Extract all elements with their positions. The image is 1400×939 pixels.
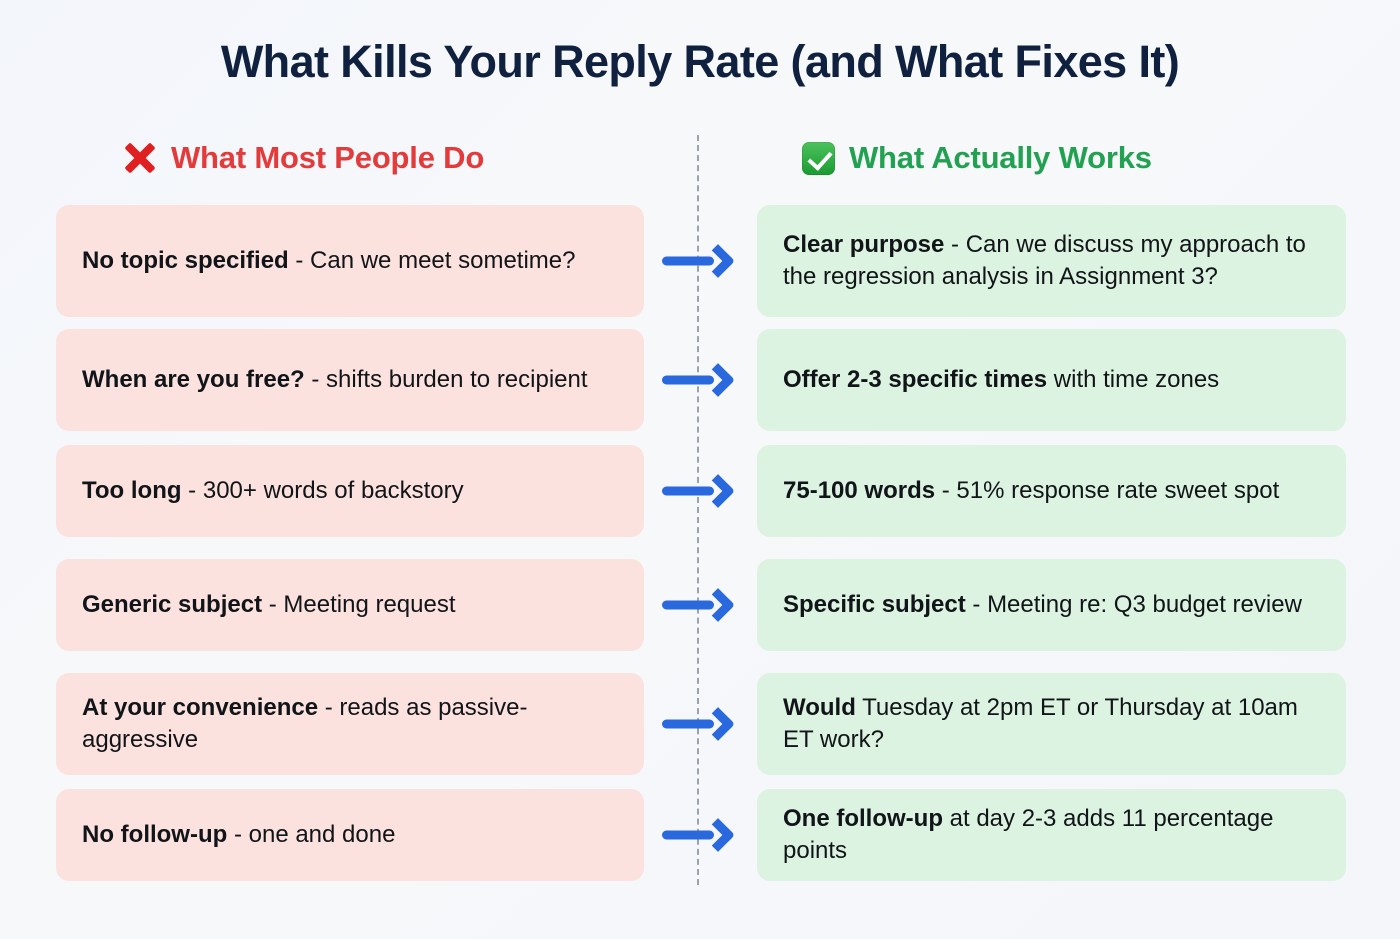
bad-practice-card: When are you free? - shifts burden to re…	[56, 329, 644, 431]
arrow-right-icon	[662, 813, 734, 857]
column-header-bad-label: What Most People Do	[171, 140, 484, 176]
card-text-emphasis: Specific subject	[783, 591, 966, 618]
check-mark-icon	[802, 142, 835, 175]
bad-practice-card: No follow-up - one and done	[56, 789, 644, 881]
column-header-bad: What Most People Do	[123, 140, 484, 176]
card-text: Clear purpose - Can we discuss my approa…	[783, 229, 1320, 293]
arrow-right-icon	[662, 583, 734, 627]
comparison-row: No topic specified - Can we meet sometim…	[0, 205, 1400, 317]
card-text-emphasis: Would	[783, 694, 856, 721]
card-text-detail: - Can we meet sometime?	[289, 247, 576, 274]
card-text-detail: - shifts burden to recipient	[305, 366, 588, 393]
card-text-emphasis: When are you free?	[82, 366, 305, 393]
card-text: Too long - 300+ words of backstory	[82, 475, 464, 507]
good-practice-card: One follow-up at day 2-3 adds 11 percent…	[757, 789, 1346, 881]
card-text: At your convenience - reads as passive-a…	[82, 692, 618, 756]
bad-practice-card: Too long - 300+ words of backstory	[56, 445, 644, 537]
card-text-detail: - 300+ words of backstory	[182, 477, 464, 504]
arrow-right-icon	[662, 239, 734, 283]
comparison-row: Generic subject - Meeting requestSpecifi…	[0, 559, 1400, 651]
card-text: Generic subject - Meeting request	[82, 589, 456, 621]
good-practice-card: Specific subject - Meeting re: Q3 budget…	[757, 559, 1346, 651]
card-text-emphasis: No topic specified	[82, 247, 289, 274]
card-text-emphasis: One follow-up	[783, 805, 943, 832]
card-text: One follow-up at day 2-3 adds 11 percent…	[783, 803, 1320, 867]
card-text-detail: with time zones	[1047, 366, 1219, 393]
card-text-emphasis: At your convenience	[82, 694, 318, 721]
good-practice-card: Offer 2-3 specific times with time zones	[757, 329, 1346, 431]
card-text-emphasis: Too long	[82, 477, 182, 504]
card-text-detail: - Meeting request	[262, 591, 455, 618]
good-practice-card: Clear purpose - Can we discuss my approa…	[757, 205, 1346, 317]
card-text-emphasis: Generic subject	[82, 591, 262, 618]
comparison-row: No follow-up - one and doneOne follow-up…	[0, 789, 1400, 881]
bad-practice-card: At your convenience - reads as passive-a…	[56, 673, 644, 775]
comparison-row: When are you free? - shifts burden to re…	[0, 329, 1400, 431]
card-text-detail: - one and done	[227, 821, 395, 848]
good-practice-card: 75-100 words - 51% response rate sweet s…	[757, 445, 1346, 537]
card-text-emphasis: Offer 2-3 specific times	[783, 366, 1047, 393]
good-practice-card: Would Tuesday at 2pm ET or Thursday at 1…	[757, 673, 1346, 775]
card-text: No follow-up - one and done	[82, 819, 395, 851]
column-header-good: What Actually Works	[802, 140, 1152, 176]
comparison-row: At your convenience - reads as passive-a…	[0, 673, 1400, 775]
comparison-row: Too long - 300+ words of backstory75-100…	[0, 445, 1400, 537]
card-text: Offer 2-3 specific times with time zones	[783, 364, 1219, 396]
card-text: When are you free? - shifts burden to re…	[82, 364, 588, 396]
card-text-emphasis: No follow-up	[82, 821, 227, 848]
card-text-emphasis: Clear purpose	[783, 231, 944, 258]
card-text: No topic specified - Can we meet sometim…	[82, 245, 575, 277]
card-text-emphasis: 75-100 words	[783, 477, 935, 504]
arrow-right-icon	[662, 358, 734, 402]
card-text-detail: - 51% response rate sweet spot	[935, 477, 1279, 504]
page-title: What Kills Your Reply Rate (and What Fix…	[0, 36, 1400, 88]
card-text: 75-100 words - 51% response rate sweet s…	[783, 475, 1279, 507]
cross-mark-icon	[123, 141, 157, 175]
card-text: Would Tuesday at 2pm ET or Thursday at 1…	[783, 692, 1320, 756]
column-header-good-label: What Actually Works	[849, 140, 1152, 176]
arrow-right-icon	[662, 702, 734, 746]
card-text-detail: Tuesday at 2pm ET or Thursday at 10am ET…	[783, 694, 1298, 753]
bad-practice-card: No topic specified - Can we meet sometim…	[56, 205, 644, 317]
arrow-right-icon	[662, 469, 734, 513]
card-text-detail: - Meeting re: Q3 budget review	[966, 591, 1302, 618]
bad-practice-card: Generic subject - Meeting request	[56, 559, 644, 651]
card-text: Specific subject - Meeting re: Q3 budget…	[783, 589, 1302, 621]
infographic-canvas: What Kills Your Reply Rate (and What Fix…	[0, 0, 1400, 939]
